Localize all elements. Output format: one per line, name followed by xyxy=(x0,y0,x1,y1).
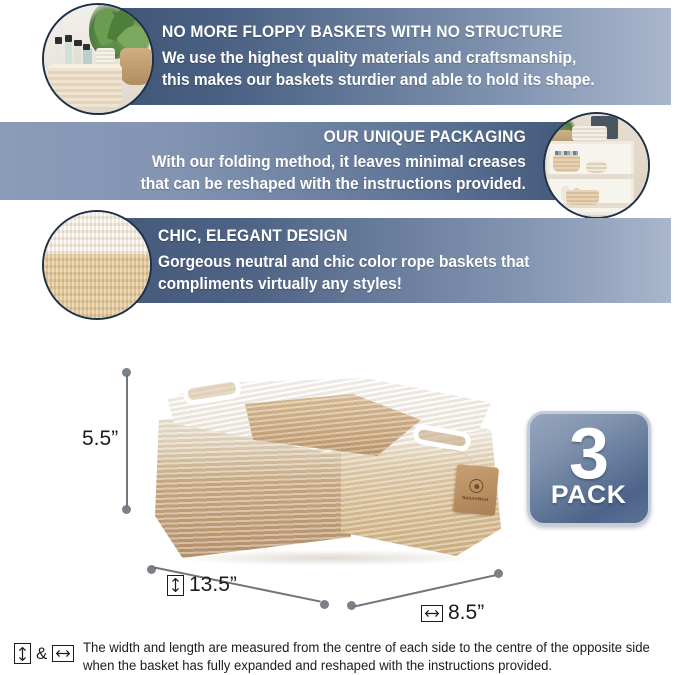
footnote-separator: & xyxy=(36,644,47,664)
footnote-icon-group: & xyxy=(14,639,74,664)
feature-body-line-1: Gorgeous neutral and chic color rope bas… xyxy=(158,252,529,273)
bottle-cap-icon xyxy=(65,35,73,41)
feature-image-packaging xyxy=(543,112,650,219)
bottle-icon xyxy=(74,44,80,66)
rope-basket-icon xyxy=(48,64,121,107)
brand-name: NatureNest xyxy=(462,495,489,502)
feature-body-line-2: compliments virtually any styles! xyxy=(158,274,402,295)
feature-banner-structure: NO MORE FLOPPY BASKETS WITH NO STRUCTURE… xyxy=(100,8,671,105)
bottle-cap-icon xyxy=(55,37,63,43)
feature-body-line-2: that can be reshaped with the instructio… xyxy=(141,174,526,195)
rope-texture-scene xyxy=(44,212,150,318)
height-dimension-label: 5.5” xyxy=(82,427,118,451)
feature-image-structure xyxy=(42,3,154,115)
shelf-baskets-scene xyxy=(545,114,648,217)
footnote-line-2: when the basket has fully expanded and r… xyxy=(83,657,650,675)
rope-basket-icon xyxy=(553,155,580,171)
feature-banner-design: CHIC, ELEGANT DESIGN Gorgeous neutral an… xyxy=(100,218,671,303)
length-dimension-label: 13.5” xyxy=(167,573,237,597)
length-dimension-dot-end xyxy=(320,600,329,609)
bottle-cap-icon xyxy=(74,40,82,46)
planter-pot-icon xyxy=(120,48,152,85)
feature-title: CHIC, ELEGANT DESIGN xyxy=(158,226,348,246)
feature-body-line-1: With our folding method, it leaves minim… xyxy=(152,152,526,173)
brand-hang-tag: NatureNest xyxy=(453,464,499,515)
feature-title: OUR UNIQUE PACKAGING xyxy=(324,127,526,147)
footnote-line-1: The width and length are measured from t… xyxy=(83,639,650,657)
length-value: 13.5” xyxy=(189,573,237,597)
footnote-text: The width and length are measured from t… xyxy=(83,639,650,675)
feature-banner-packaging: OUR UNIQUE PACKAGING With our folding me… xyxy=(0,122,592,200)
vertical-double-arrow-icon xyxy=(167,575,184,596)
pack-count-number: 3 xyxy=(569,425,609,484)
feature-body-line-1: We use the highest quality materials and… xyxy=(162,48,576,69)
horizontal-double-arrow-icon xyxy=(52,645,74,662)
rope-bowl-icon xyxy=(586,161,607,172)
bottle-icon xyxy=(55,42,63,66)
bottle-icon xyxy=(65,40,73,66)
pack-count-label: PACK xyxy=(551,483,627,508)
shelf-divider xyxy=(547,174,634,179)
rope-basket-icon xyxy=(572,126,607,142)
measurement-footnote: & The width and length are measured from… xyxy=(0,636,679,673)
width-dimension-label: 8.5” xyxy=(421,601,484,625)
brand-logo-icon xyxy=(469,478,484,493)
feature-image-design xyxy=(42,210,152,320)
pack-count-badge: 3 PACK xyxy=(527,411,651,526)
feature-title: NO MORE FLOPPY BASKETS WITH NO STRUCTURE xyxy=(162,22,563,42)
product-image-basket: NatureNest xyxy=(155,358,500,573)
rope-basket-icon xyxy=(566,190,599,204)
height-dimension-line xyxy=(126,374,128,507)
horizontal-double-arrow-icon xyxy=(421,605,443,622)
bottle-cap-icon xyxy=(83,44,91,50)
vertical-double-arrow-icon xyxy=(14,643,31,664)
basket-toiletries-scene xyxy=(44,5,152,113)
rope-weave-overlay xyxy=(44,212,150,318)
feature-body-line-2: this makes our baskets sturdier and able… xyxy=(162,70,595,91)
width-value: 8.5” xyxy=(448,601,484,625)
